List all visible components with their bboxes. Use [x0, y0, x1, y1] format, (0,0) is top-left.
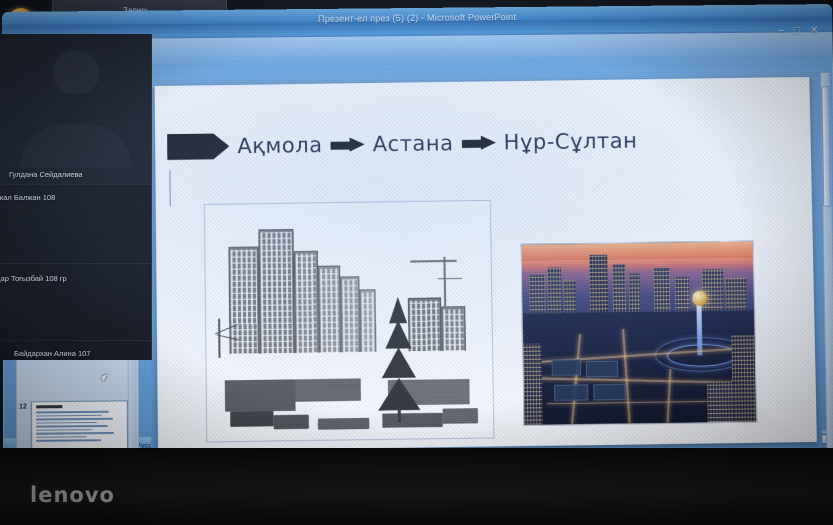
thumbnail-number: 12: [19, 403, 27, 410]
window-title: Презент-ел през (5) (2) - Microsoft Powe…: [2, 9, 832, 27]
self-video-silhouette: [53, 50, 99, 94]
video-call-panel[interactable]: Гулдана Сейдалиева бжал Балжан 108 идар …: [0, 34, 152, 360]
current-slide[interactable]: Ақмола Астана Нұр-Сұлтан: [155, 77, 817, 451]
modern-photo-content: [522, 242, 756, 425]
slide-title-block[interactable]: Ақмола Астана Нұр-Сұлтан: [167, 115, 809, 170]
title-accent-line: [169, 170, 170, 206]
call-tile-4[interactable]: Байдархан Алина 107: [0, 341, 152, 360]
slide-image-modern-nursultan[interactable]: [521, 241, 758, 426]
title-word-astana: Астана: [373, 131, 454, 156]
slide-image-historic-akmola[interactable]: [204, 200, 495, 443]
maximize-button[interactable]: □: [794, 26, 800, 36]
right-arrow-icon-1: [331, 138, 365, 152]
title-word-nursultan: Нұр-Сұлтан: [503, 128, 637, 154]
thumbnail-title-bar: [36, 405, 62, 408]
call-tile-2[interactable]: бжал Балжан 108: [0, 185, 152, 263]
call-tile-3[interactable]: идар Тоғызбай 108 гр: [0, 264, 152, 340]
close-button[interactable]: ✕: [810, 26, 819, 36]
slide-editing-area[interactable]: Ақмола Астана Нұр-Сұлтан: [149, 72, 822, 456]
screen-photo: Запись... Главная Вставка Дизайн Анимаци…: [0, 0, 833, 525]
lenovo-logo: lenovo: [30, 483, 115, 507]
title-word-akmola: Ақмола: [237, 133, 323, 158]
self-video-shoulders: [20, 124, 132, 168]
window-controls: – □ ✕: [778, 26, 818, 36]
participant-name: Гулдана Сейдалиева: [9, 170, 83, 179]
laptop-bezel: [0, 448, 833, 525]
participant-name: идар Тоғызбай 108 гр: [0, 274, 67, 283]
spruce-tree: [364, 262, 431, 423]
historic-photo-content: [212, 208, 486, 434]
minimize-button[interactable]: –: [778, 26, 784, 36]
participant-name: бжал Балжан 108: [0, 193, 55, 202]
black-chevron-icon: [167, 133, 229, 160]
call-tile-self[interactable]: Гулдана Сейдалиева: [0, 34, 152, 184]
participant-name: Байдархан Алина 107: [14, 349, 90, 358]
right-arrow-icon-2: [461, 136, 495, 150]
